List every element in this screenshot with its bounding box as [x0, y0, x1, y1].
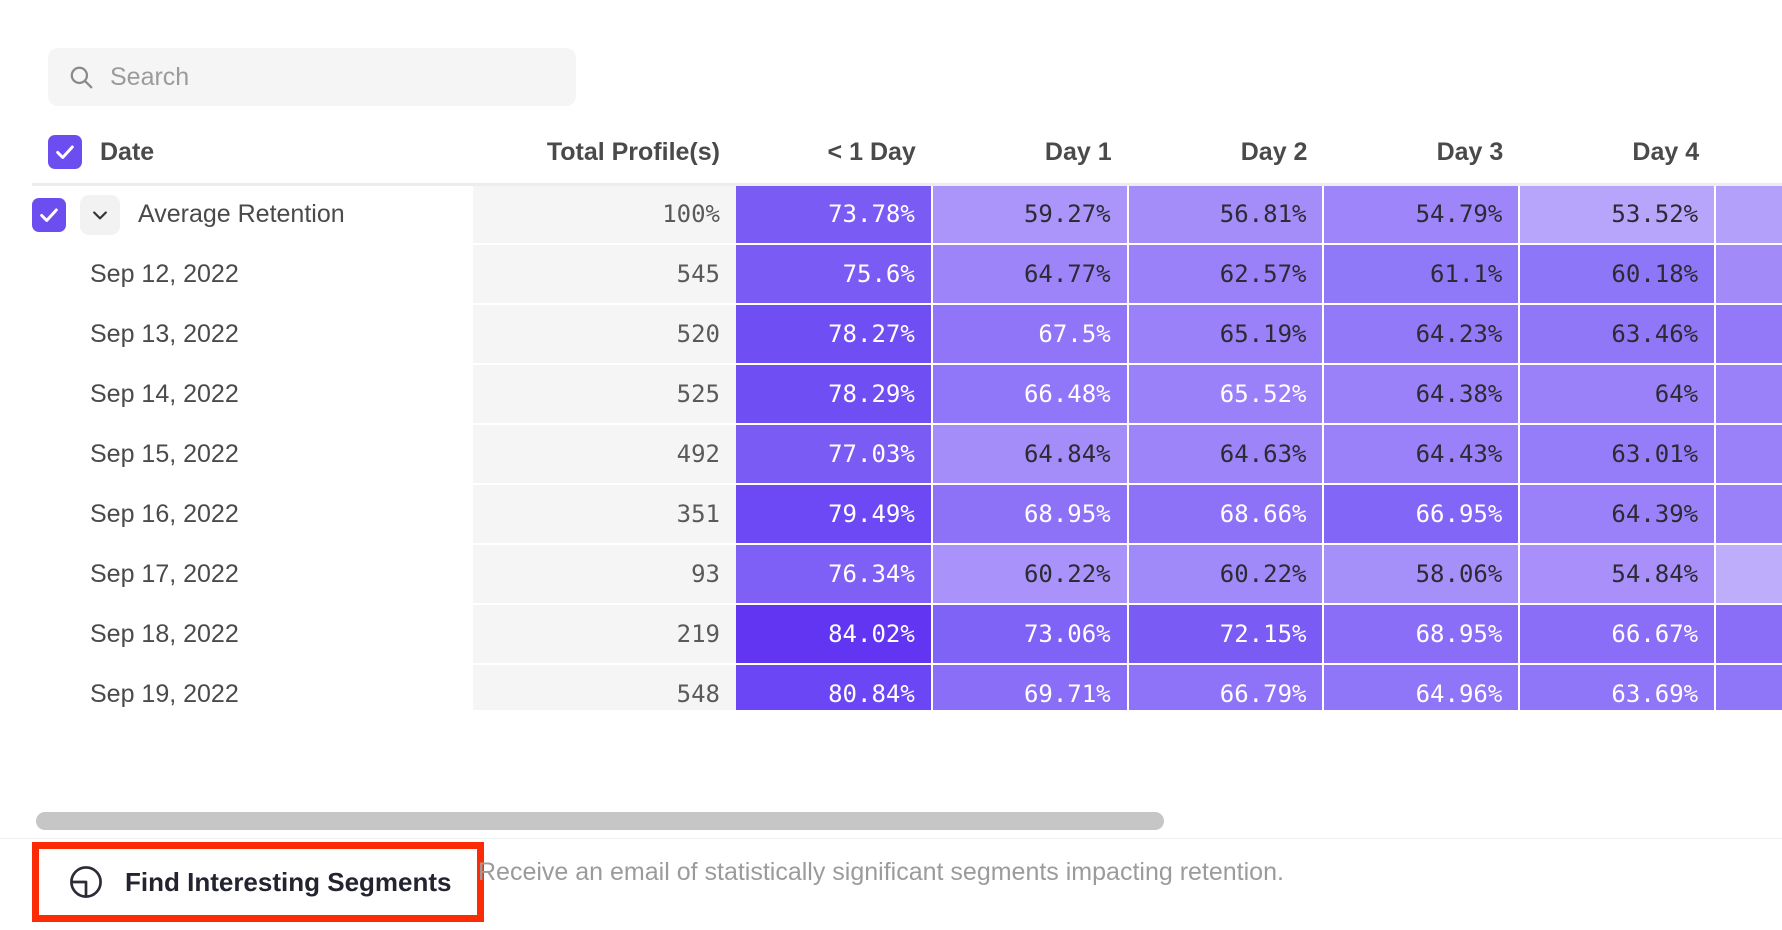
- cell-retention: 68.95%: [932, 484, 1128, 544]
- cell-date: Average Retention: [32, 184, 473, 244]
- cell-retention: 63.24%: [1715, 364, 1782, 424]
- cell-retention: 60.22%: [1128, 544, 1324, 604]
- cell-retention: 54.84%: [1519, 544, 1715, 604]
- cell-retention: 68.95%: [1323, 604, 1519, 664]
- table-row[interactable]: Sep 13, 202252078.27%67.5%65.19%64.23%63…: [32, 304, 1782, 364]
- cell-retention: 64.23%: [1323, 304, 1519, 364]
- col-header-day-5[interactable]: Day 5: [1715, 122, 1782, 184]
- cell-retention: 66.67%: [1519, 604, 1715, 664]
- col-header-day-2[interactable]: Day 2: [1128, 122, 1324, 184]
- cell-retention: 64.96%: [1323, 664, 1519, 710]
- row-date-label: Average Retention: [134, 200, 345, 229]
- cell-date: Sep 13, 2022: [32, 304, 473, 364]
- table-row[interactable]: Sep 12, 202254575.6%64.77%62.57%61.1%60.…: [32, 244, 1782, 304]
- cell-total-profiles: 100%: [473, 184, 736, 244]
- table-body: Average Retention100%73.78%59.27%56.81%5…: [32, 184, 1782, 710]
- cell-retention: 63.01%: [1519, 424, 1715, 484]
- cell-retention: 69.71%: [932, 664, 1128, 710]
- cell-date: Sep 17, 2022: [32, 544, 473, 604]
- cell-retention: 60.18%: [1519, 244, 1715, 304]
- cell-retention: 80.84%: [736, 664, 932, 710]
- search-icon: [68, 64, 94, 90]
- cell-retention: 66.48%: [932, 364, 1128, 424]
- row-date-label: Sep 19, 2022: [86, 680, 239, 709]
- cell-total-profiles: 545: [473, 244, 736, 304]
- cell-retention: 64.43%: [1323, 424, 1519, 484]
- cell-retention: 62.57%: [1128, 244, 1324, 304]
- cell-retention: 64%: [1519, 364, 1715, 424]
- col-header-day-4[interactable]: Day 4: [1519, 122, 1715, 184]
- cell-retention: 75.6%: [736, 244, 932, 304]
- table-row[interactable]: Sep 16, 202235179.49%68.95%68.66%66.95%6…: [32, 484, 1782, 544]
- row-date-label: Sep 18, 2022: [86, 620, 239, 649]
- footer-note: Receive an email of statistically signif…: [478, 858, 1284, 887]
- header-row: Date Total Profile(s) < 1 Day Day 1 Day …: [32, 122, 1782, 184]
- retention-table-page: Date Total Profile(s) < 1 Day Day 1 Day …: [0, 0, 1782, 930]
- cell-retention: 59.27%: [932, 184, 1128, 244]
- select-all-checkbox[interactable]: [48, 135, 82, 169]
- cell-retention: 78.29%: [736, 364, 932, 424]
- cell-retention: 73.06%: [932, 604, 1128, 664]
- cell-date: Sep 16, 2022: [32, 484, 473, 544]
- cell-retention: 56.81%: [1128, 184, 1324, 244]
- cell-retention: 61.1%: [1323, 244, 1519, 304]
- row-checkbox[interactable]: [32, 198, 66, 232]
- cell-retention: 67.5%: [932, 304, 1128, 364]
- cell-retention: 79.49%: [736, 484, 932, 544]
- cell-retention: 64.63%: [1128, 424, 1324, 484]
- cell-retention: 63.46%: [1519, 304, 1715, 364]
- cell-retention: 53.26%: [1715, 184, 1782, 244]
- row-date-label: Sep 15, 2022: [86, 440, 239, 469]
- cell-total-profiles: 351: [473, 484, 736, 544]
- cell-retention: 64.77%: [932, 244, 1128, 304]
- col-header-day-1[interactable]: Day 1: [932, 122, 1128, 184]
- search-box[interactable]: [48, 48, 576, 106]
- cell-date: Sep 19, 2022: [32, 664, 473, 710]
- cell-retention: 72.15%: [1128, 604, 1324, 664]
- cell-retention: 68.66%: [1128, 484, 1324, 544]
- cell-date: Sep 18, 2022: [32, 604, 473, 664]
- row-date-label: Sep 12, 2022: [86, 260, 239, 289]
- find-interesting-segments-button[interactable]: Find Interesting Segments: [32, 842, 484, 922]
- col-header-date[interactable]: Date: [32, 122, 473, 184]
- cell-retention: 63.25%: [1715, 484, 1782, 544]
- cell-retention: 51.61%: [1715, 544, 1782, 604]
- cell-retention: 64.39%: [1519, 484, 1715, 544]
- cell-retention: 59.27%: [1715, 244, 1782, 304]
- retention-table-scroll-region[interactable]: Date Total Profile(s) < 1 Day Day 1 Day …: [0, 122, 1782, 710]
- cell-date: Sep 12, 2022: [32, 244, 473, 304]
- col-header-day-3[interactable]: Day 3: [1323, 122, 1519, 184]
- row-date-label: Sep 14, 2022: [86, 380, 239, 409]
- row-date-label: Sep 13, 2022: [86, 320, 239, 349]
- table-row[interactable]: Sep 19, 202254880.84%69.71%66.79%64.96%6…: [32, 664, 1782, 710]
- row-date-label: Sep 17, 2022: [86, 560, 239, 589]
- cell-total-profiles: 520: [473, 304, 736, 364]
- chevron-down-icon[interactable]: [80, 195, 120, 235]
- cell-retention: 66.21%: [1715, 604, 1782, 664]
- cell-retention: 63.69%: [1519, 664, 1715, 710]
- cell-retention: 65.52%: [1128, 364, 1324, 424]
- cell-total-profiles: 548: [473, 664, 736, 710]
- table-row[interactable]: Sep 15, 202249277.03%64.84%64.63%64.43%6…: [32, 424, 1782, 484]
- cell-retention: 65.19%: [1128, 304, 1324, 364]
- cell-retention: 58.06%: [1323, 544, 1519, 604]
- cell-total-profiles: 93: [473, 544, 736, 604]
- cell-retention: 64.38%: [1323, 364, 1519, 424]
- cell-retention: 64.84%: [932, 424, 1128, 484]
- cell-retention: 77.03%: [736, 424, 932, 484]
- table-row[interactable]: Sep 14, 202252578.29%66.48%65.52%64.38%6…: [32, 364, 1782, 424]
- cell-retention: 66.79%: [1128, 664, 1324, 710]
- retention-table: Date Total Profile(s) < 1 Day Day 1 Day …: [32, 122, 1782, 710]
- find-interesting-segments-label: Find Interesting Segments: [125, 867, 452, 898]
- cell-retention: 78.27%: [736, 304, 932, 364]
- cell-retention: 66.95%: [1323, 484, 1519, 544]
- cell-date: Sep 15, 2022: [32, 424, 473, 484]
- cell-retention: 53.52%: [1519, 184, 1715, 244]
- cell-retention: 60.22%: [932, 544, 1128, 604]
- table-header: Date Total Profile(s) < 1 Day Day 1 Day …: [32, 122, 1782, 184]
- table-row[interactable]: Sep 18, 202221984.02%73.06%72.15%68.95%6…: [32, 604, 1782, 664]
- horizontal-scrollbar-thumb[interactable]: [36, 812, 1164, 830]
- cell-retention: 84.02%: [736, 604, 932, 664]
- row-date-label: Sep 16, 2022: [86, 500, 239, 529]
- cell-total-profiles: 525: [473, 364, 736, 424]
- cell-retention: 62.69%: [1715, 304, 1782, 364]
- cell-retention: 54.79%: [1323, 184, 1519, 244]
- cell-retention: 63.32%: [1715, 664, 1782, 710]
- col-header-less-than-1-day[interactable]: < 1 Day: [736, 122, 932, 184]
- cell-total-profiles: 219: [473, 604, 736, 664]
- cell-date: Sep 14, 2022: [32, 364, 473, 424]
- cell-retention: 62.6%: [1715, 424, 1782, 484]
- table-row[interactable]: Average Retention100%73.78%59.27%56.81%5…: [32, 184, 1782, 244]
- segment-pie-icon: [67, 863, 105, 901]
- col-header-total-profiles[interactable]: Total Profile(s): [473, 122, 736, 184]
- cell-retention: 73.78%: [736, 184, 932, 244]
- cell-retention: 76.34%: [736, 544, 932, 604]
- col-header-date-label: Date: [100, 138, 154, 167]
- search-input[interactable]: [110, 63, 556, 92]
- cell-total-profiles: 492: [473, 424, 736, 484]
- table-row[interactable]: Sep 17, 20229376.34%60.22%60.22%58.06%54…: [32, 544, 1782, 604]
